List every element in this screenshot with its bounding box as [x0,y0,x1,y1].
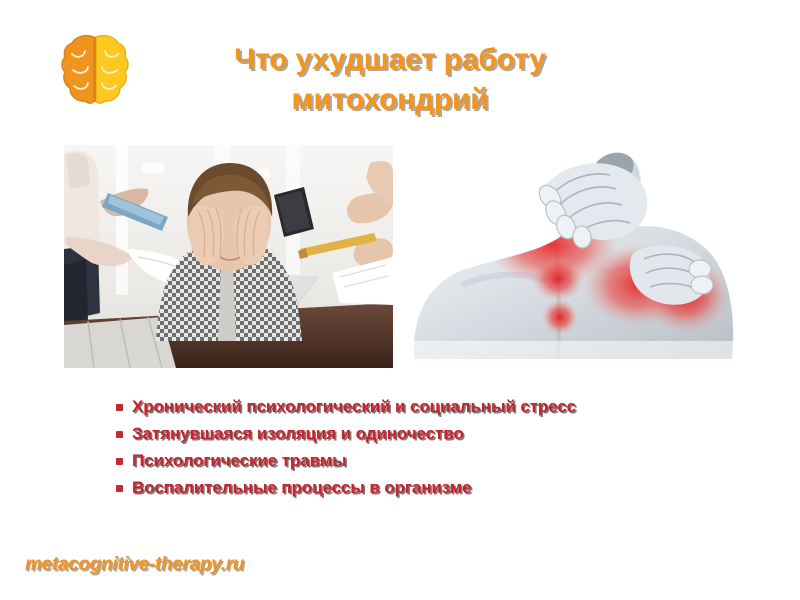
page-title-line-2: митохондрий [175,80,605,120]
list-item: Затянувшаяся изоляция и одиночество [116,423,736,450]
bullet-marker-icon [116,431,123,438]
list-item-label: Затянувшаяся изоляция и одиночество [132,423,464,444]
list-item: Хронический психологический и социальный… [116,396,736,423]
bullet-marker-icon [116,404,123,411]
stressed-man-at-desk-photo [64,145,393,368]
list-item-label: Психологические травмы [132,450,347,471]
page-title: Что ухудшает работу митохондрий [175,40,605,119]
bullet-list: Хронический психологический и социальный… [116,396,736,504]
bullet-marker-icon [116,485,123,492]
neck-shoulder-pain-photo [400,145,740,359]
page-title-line-1: Что ухудшает работу [175,40,605,80]
list-item-label: Воспалительные процессы в организме [132,477,471,498]
site-watermark: metacognitive-therapy.ru [25,554,244,576]
list-item: Психологические травмы [116,450,736,477]
bullet-marker-icon [116,458,123,465]
list-item-label: Хронический психологический и социальный… [132,396,576,417]
list-item: Воспалительные процессы в организме [116,477,736,504]
presentation-slide: Что ухудшает работу митохондрий [0,0,800,600]
brain-icon [60,32,130,106]
